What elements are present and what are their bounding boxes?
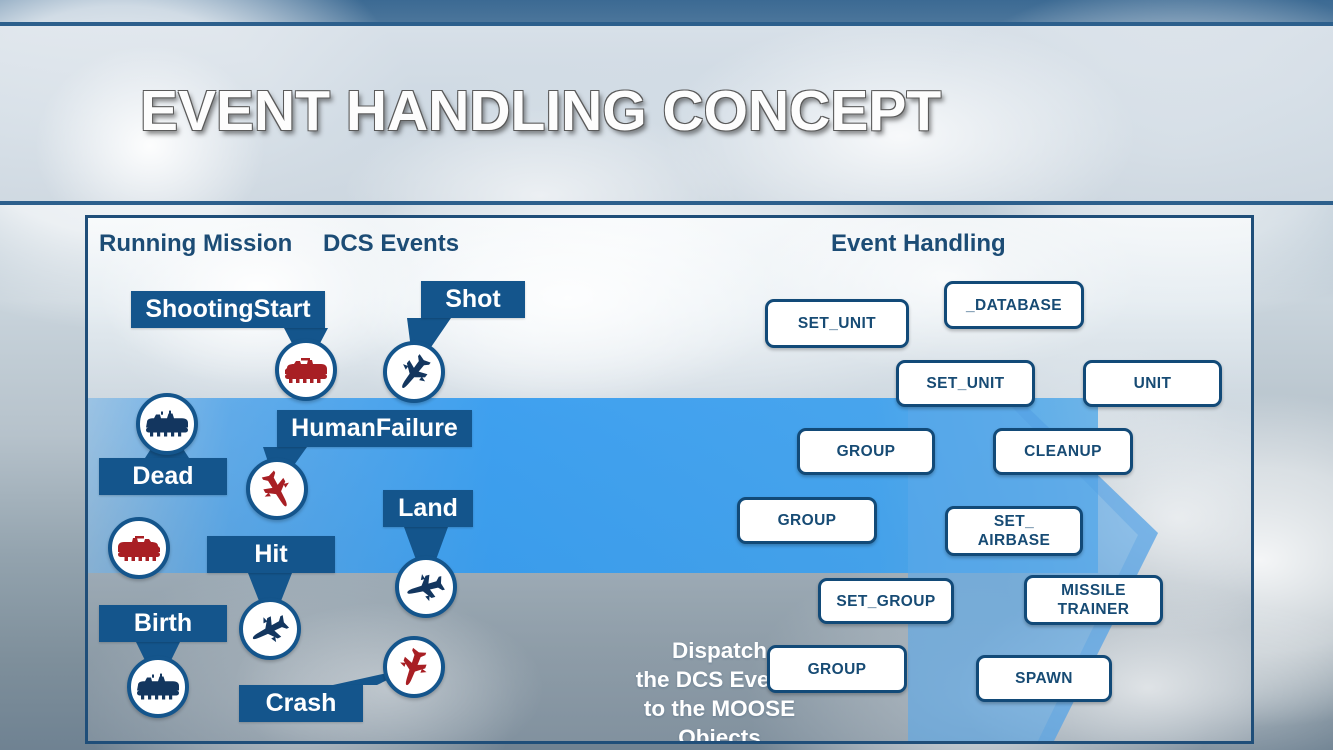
- event-callout[interactable]: Crash: [239, 685, 363, 722]
- jet-navy-1-icon: [383, 341, 445, 403]
- ship-navy-icon: [136, 393, 198, 455]
- moose-object-box[interactable]: SET_UNIT: [765, 299, 909, 348]
- moose-object-box[interactable]: SET_UNIT: [896, 360, 1035, 407]
- event-callout[interactable]: Dead: [99, 458, 227, 495]
- event-callout[interactable]: Birth: [99, 605, 227, 642]
- moose-object-label: SET_AIRBASE: [978, 512, 1051, 550]
- jet-navy-3-icon: [239, 598, 301, 660]
- jet-red-1-icon: [246, 458, 308, 520]
- dispatch-line-3: Objects: [597, 723, 842, 744]
- event-label: Shot: [421, 281, 525, 318]
- moose-object-label: MISSILETRAINER: [1058, 581, 1130, 619]
- event-label: HumanFailure: [277, 410, 472, 447]
- moose-object-label: SET_UNIT: [926, 374, 1004, 393]
- event-label: Crash: [239, 685, 363, 722]
- moose-object-label: _DATABASE: [966, 296, 1062, 315]
- section-heading-0: Running Mission: [99, 230, 292, 258]
- moose-object-box[interactable]: SET_AIRBASE: [945, 506, 1083, 556]
- event-callout[interactable]: ShootingStart: [131, 291, 325, 328]
- moose-object-box[interactable]: MISSILETRAINER: [1024, 575, 1163, 625]
- event-callout[interactable]: Hit: [207, 536, 335, 573]
- moose-object-box[interactable]: UNIT: [1083, 360, 1222, 407]
- moose-object-label: SPAWN: [1015, 669, 1073, 688]
- section-heading-1: DCS Events: [323, 230, 459, 258]
- moose-object-label: GROUP: [778, 511, 837, 530]
- moose-object-label: GROUP: [808, 660, 867, 679]
- tank-red-2-icon: [108, 517, 170, 579]
- moose-object-box[interactable]: GROUP: [767, 645, 907, 693]
- moose-object-label: SET_GROUP: [836, 592, 935, 611]
- moose-object-label: CLEANUP: [1024, 442, 1102, 461]
- moose-object-box[interactable]: GROUP: [797, 428, 935, 475]
- section-heading-2: Event Handling: [831, 230, 1006, 258]
- jet-navy-2-icon: [395, 556, 457, 618]
- moose-object-label: GROUP: [837, 442, 896, 461]
- page-title: EVENT HANDLING CONCEPT: [140, 78, 941, 144]
- event-label: ShootingStart: [131, 291, 325, 328]
- moose-object-box[interactable]: CLEANUP: [993, 428, 1133, 475]
- event-label: Birth: [99, 605, 227, 642]
- jet-red-2-icon: [383, 636, 445, 698]
- moose-object-label: SET_UNIT: [798, 314, 876, 333]
- tank-red-icon: [275, 339, 337, 401]
- event-label: Dead: [99, 458, 227, 495]
- event-callout[interactable]: Shot: [421, 281, 525, 318]
- dispatch-line-2: to the MOOSE: [597, 694, 842, 723]
- diagram-panel: Running MissionDCS EventsEvent Handling …: [85, 215, 1254, 744]
- slide-stage: EVENT HANDLING CONCEPT Running MissionDC…: [0, 0, 1333, 750]
- event-callout[interactable]: Land: [383, 490, 473, 527]
- event-label: Hit: [207, 536, 335, 573]
- moose-object-box[interactable]: SET_GROUP: [818, 578, 954, 624]
- event-callout[interactable]: HumanFailure: [277, 410, 472, 447]
- ship-navy-2-icon: [127, 656, 189, 718]
- event-label: Land: [383, 490, 473, 527]
- moose-object-box[interactable]: SPAWN: [976, 655, 1112, 702]
- moose-object-label: UNIT: [1134, 374, 1172, 393]
- moose-object-box[interactable]: GROUP: [737, 497, 877, 544]
- moose-object-box[interactable]: _DATABASE: [944, 281, 1084, 329]
